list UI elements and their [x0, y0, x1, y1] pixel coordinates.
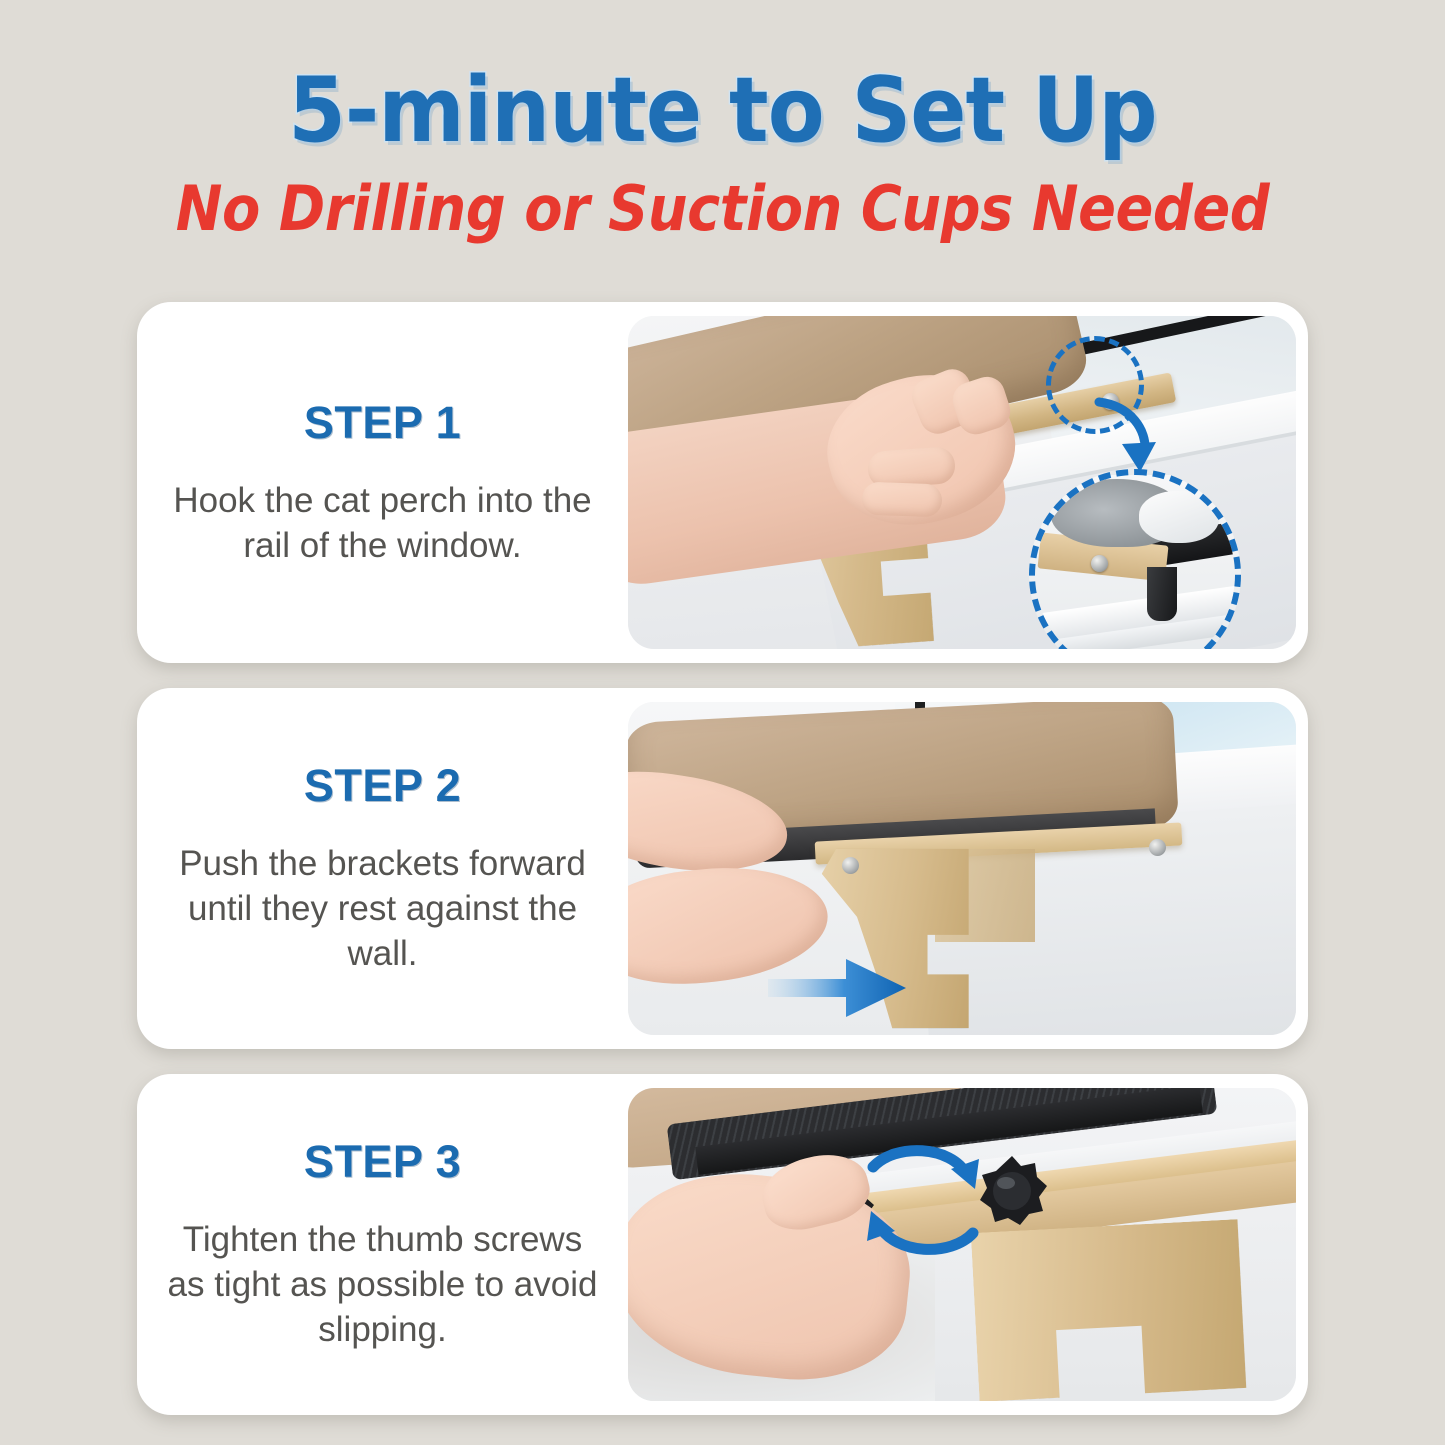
rotation-arrow-icon [855, 1141, 995, 1261]
step-2-label: STEP 2 [304, 760, 461, 812]
page-title: 5-minute to Set Up [58, 66, 1387, 156]
step-1-label: STEP 1 [304, 397, 461, 449]
finger [861, 481, 942, 517]
step-1-description: Hook the cat perch into the rail of the … [163, 479, 603, 569]
step-card-2: STEP 2 Push the brackets forward until t… [137, 688, 1308, 1049]
headline-block: 5-minute to Set Up No Drilling or Suctio… [0, 66, 1445, 240]
white-fabric [1139, 491, 1219, 543]
step-3-description: Tighten the thumb screws as tight as pos… [163, 1218, 603, 1352]
black-hook-clip [1147, 567, 1177, 621]
step-3-text-block: STEP 3 Tighten the thumb screws as tight… [137, 1074, 628, 1415]
screw-icon [842, 857, 859, 874]
step-3-label: STEP 3 [304, 1136, 461, 1188]
step-1-text-block: STEP 1 Hook the cat perch into the rail … [137, 302, 628, 663]
step-2-text-block: STEP 2 Push the brackets forward until t… [137, 688, 628, 1049]
step-2-photo [628, 702, 1296, 1035]
step-3-photo [628, 1088, 1296, 1401]
step-card-3: STEP 3 Tighten the thumb screws as tight… [137, 1074, 1308, 1415]
step-card-1: STEP 1 Hook the cat perch into the rail … [137, 302, 1308, 663]
curved-down-arrow-icon [1089, 396, 1159, 480]
infographic-page: 5-minute to Set Up No Drilling or Suctio… [0, 0, 1445, 1445]
step-2-description: Push the brackets forward until they res… [163, 842, 603, 976]
screw-icon [1091, 555, 1108, 572]
page-subtitle: No Drilling or Suction Cups Needed [72, 178, 1373, 240]
push-right-arrow-icon [768, 955, 908, 1021]
step-1-photo [628, 316, 1296, 649]
screw-icon [1149, 839, 1166, 856]
